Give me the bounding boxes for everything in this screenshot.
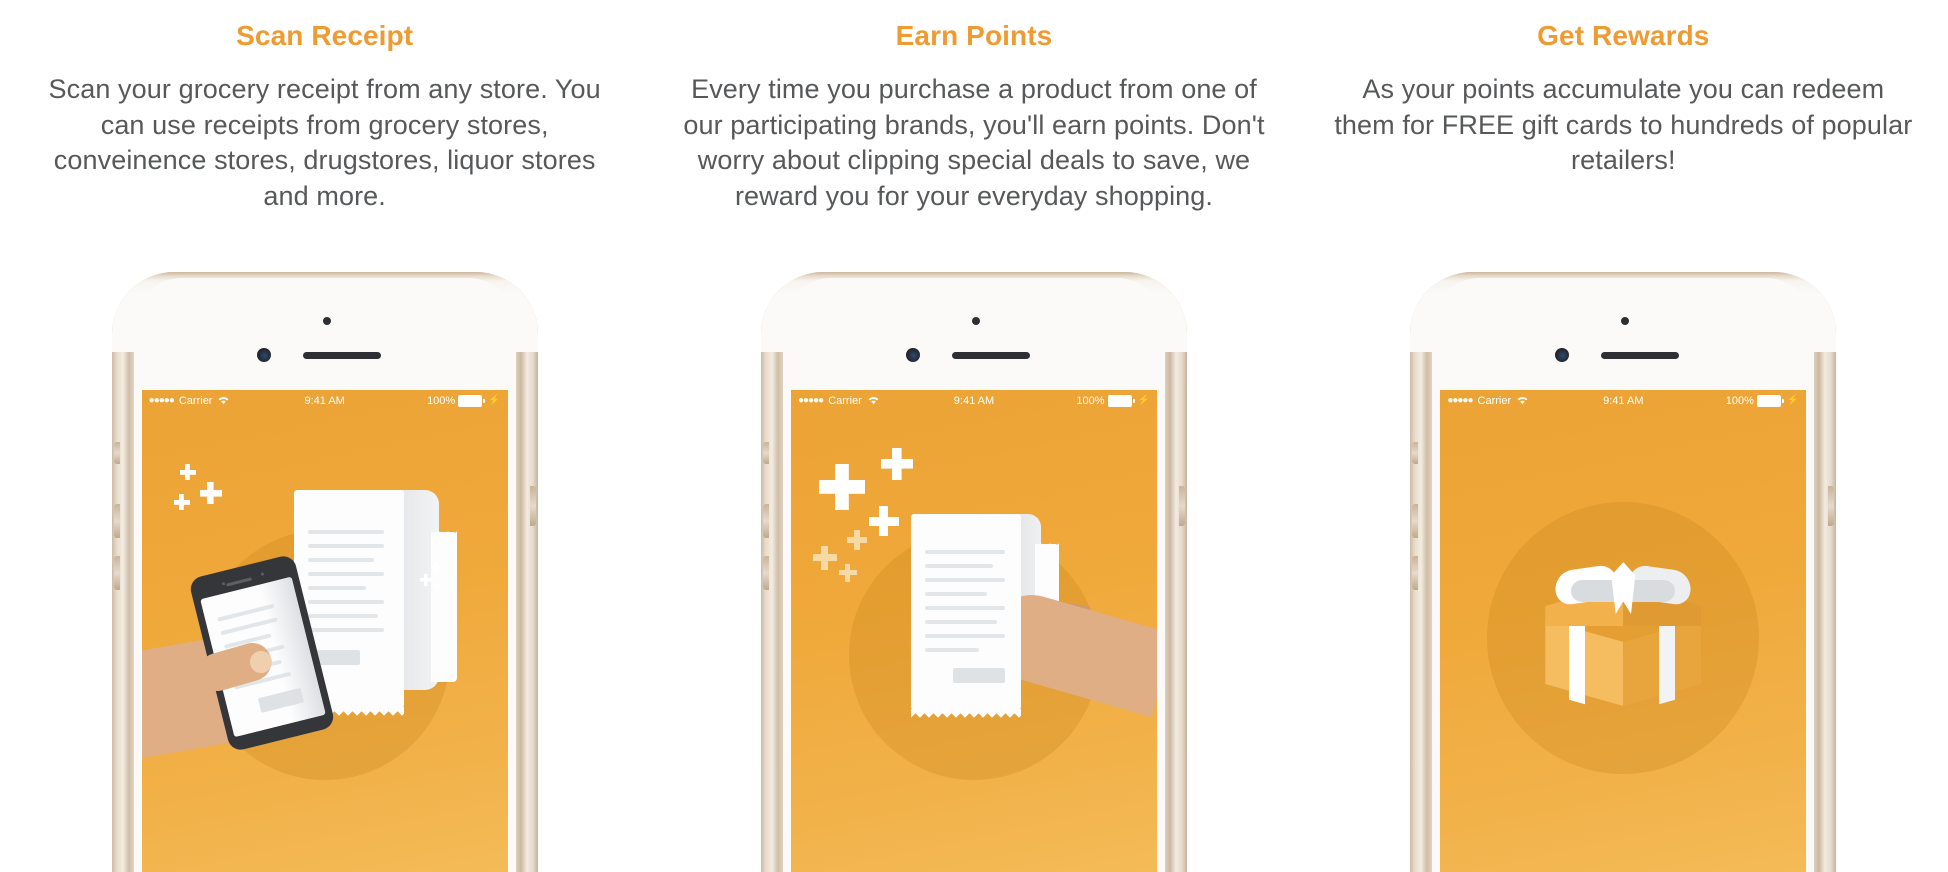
wifi-icon bbox=[217, 395, 230, 408]
illustration-phone-sensor-icon bbox=[260, 572, 264, 576]
power-button[interactable] bbox=[1828, 486, 1834, 526]
battery-percent-label: 100% bbox=[427, 395, 455, 407]
sparkle-icon bbox=[434, 582, 442, 590]
receipt-zigzag-top bbox=[1035, 543, 1059, 552]
status-bar-left: ●●●●● Carrier bbox=[149, 395, 325, 408]
sparkle-icon bbox=[174, 494, 190, 510]
wifi-icon bbox=[1516, 395, 1529, 408]
phone-screen[interactable]: ●●●●● Carrier 9:41 AM 100% bbox=[142, 390, 508, 872]
sparkle-icon bbox=[420, 574, 432, 586]
ring-silent-switch[interactable] bbox=[1412, 442, 1418, 464]
feature-title-earn-points: Earn Points bbox=[896, 18, 1053, 53]
feature-column-scan-receipt: Scan Receipt Scan your grocery receipt f… bbox=[0, 0, 649, 830]
phone-mockup-get-rewards: ●●●●● Carrier 9:41 AM 100% bbox=[1410, 272, 1836, 872]
proximity-sensor-icon bbox=[323, 317, 331, 325]
carrier-label: Carrier bbox=[828, 395, 862, 407]
carrier-label: Carrier bbox=[1478, 395, 1512, 407]
carrier-label: Carrier bbox=[179, 395, 213, 407]
earpiece-speaker-icon bbox=[1601, 352, 1679, 359]
phone-mockup-scan-receipt: ●●●●● Carrier 9:41 AM 100% bbox=[112, 272, 538, 872]
sparkle-icon bbox=[839, 564, 857, 582]
earpiece-speaker-icon bbox=[303, 352, 381, 359]
signal-strength-icon: ●●●●● bbox=[149, 396, 174, 406]
wifi-icon bbox=[867, 395, 880, 408]
battery-full-icon bbox=[1108, 395, 1132, 407]
front-camera-icon bbox=[257, 348, 271, 362]
signal-strength-icon: ●●●●● bbox=[1447, 396, 1472, 406]
earpiece-speaker-icon bbox=[952, 352, 1030, 359]
feature-column-get-rewards: Get Rewards As your points accumulate yo… bbox=[1299, 0, 1948, 830]
feature-title-get-rewards: Get Rewards bbox=[1537, 18, 1709, 53]
sparkle-icon bbox=[813, 546, 837, 570]
battery-full-icon bbox=[1757, 395, 1781, 407]
status-bar: ●●●●● Carrier 9:41 AM 100% bbox=[142, 390, 508, 412]
status-bar-right: 100% ⚡ bbox=[325, 395, 501, 407]
ring-silent-switch[interactable] bbox=[114, 442, 120, 464]
receipt-zigzag-top bbox=[431, 531, 457, 540]
volume-up-button[interactable] bbox=[114, 504, 120, 538]
status-bar: ●●●●● Carrier 9:41 AM 100% bbox=[791, 390, 1157, 412]
phone-frame: ●●●●● Carrier 9:41 AM 100% bbox=[112, 272, 538, 872]
proximity-sensor-icon bbox=[972, 317, 980, 325]
status-bar: ●●●●● Carrier 9:41 AM 100% bbox=[1440, 390, 1806, 412]
feature-columns: Scan Receipt Scan your grocery receipt f… bbox=[0, 0, 1948, 830]
receipt-curl-paper bbox=[431, 532, 457, 682]
charging-bolt-icon: ⚡ bbox=[1138, 396, 1150, 406]
battery-full-icon bbox=[458, 395, 482, 407]
receipt-large bbox=[911, 514, 1021, 710]
battery-percent-label: 100% bbox=[1726, 395, 1754, 407]
status-bar-right: 100% ⚡ bbox=[974, 395, 1150, 407]
charging-bolt-icon: ⚡ bbox=[1787, 396, 1799, 406]
front-camera-icon bbox=[1555, 348, 1569, 362]
illustration-gift-box-with-ribbon bbox=[1440, 412, 1806, 872]
feature-body-earn-points: Every time you purchase a product from o… bbox=[681, 72, 1266, 215]
feature-title-scan-receipt: Scan Receipt bbox=[236, 18, 413, 53]
volume-up-button[interactable] bbox=[763, 504, 769, 538]
battery-percent-label: 100% bbox=[1076, 395, 1104, 407]
sparkle-icon bbox=[180, 464, 196, 480]
front-camera-icon bbox=[906, 348, 920, 362]
sparkle-icon bbox=[819, 464, 865, 510]
feature-column-earn-points: Earn Points Every time you purchase a pr… bbox=[649, 0, 1298, 830]
volume-down-button[interactable] bbox=[1412, 556, 1418, 590]
feature-body-scan-receipt: Scan your grocery receipt from any store… bbox=[32, 72, 617, 215]
sparkle-icon bbox=[847, 530, 867, 550]
illustration-hand-holding-receipt-with-sparkles bbox=[791, 412, 1157, 872]
power-button[interactable] bbox=[1179, 486, 1185, 526]
signal-strength-icon: ●●●●● bbox=[798, 396, 823, 406]
volume-down-button[interactable] bbox=[763, 556, 769, 590]
phone-frame: ●●●●● Carrier 9:41 AM 100% bbox=[761, 272, 1187, 872]
illustration-hand-holding-phone-scanning-receipt bbox=[142, 412, 508, 872]
sparkle-icon bbox=[200, 482, 222, 504]
charging-bolt-icon: ⚡ bbox=[488, 396, 500, 406]
feature-body-get-rewards: As your points accumulate you can redeem… bbox=[1331, 72, 1916, 179]
status-bar-right: 100% ⚡ bbox=[1623, 395, 1799, 407]
power-button[interactable] bbox=[530, 486, 536, 526]
phone-mockup-earn-points: ●●●●● Carrier 9:41 AM 100% bbox=[761, 272, 1187, 872]
sparkle-icon bbox=[881, 448, 913, 480]
status-bar-left: ●●●●● Carrier bbox=[1447, 395, 1623, 408]
sparkle-icon bbox=[869, 506, 899, 536]
volume-down-button[interactable] bbox=[114, 556, 120, 590]
illustration-phone-speaker-icon bbox=[226, 577, 252, 586]
sparkle-icon bbox=[432, 562, 442, 572]
phone-frame: ●●●●● Carrier 9:41 AM 100% bbox=[1410, 272, 1836, 872]
phone-screen[interactable]: ●●●●● Carrier 9:41 AM 100% bbox=[1440, 390, 1806, 872]
status-bar-left: ●●●●● Carrier bbox=[798, 395, 974, 408]
ring-silent-switch[interactable] bbox=[763, 442, 769, 464]
volume-up-button[interactable] bbox=[1412, 504, 1418, 538]
illustration-phone-camera-icon bbox=[221, 582, 225, 586]
gift-box-icon bbox=[1545, 562, 1701, 722]
proximity-sensor-icon bbox=[1621, 317, 1629, 325]
phone-screen[interactable]: ●●●●● Carrier 9:41 AM 100% bbox=[791, 390, 1157, 872]
